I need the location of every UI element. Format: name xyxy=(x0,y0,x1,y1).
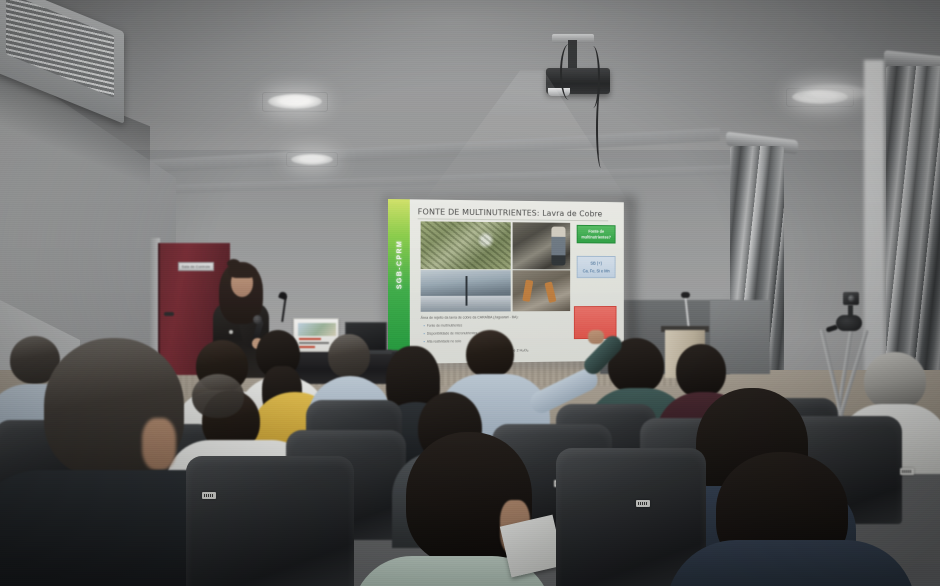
blue-callout: SB (+) Ca, Fe, Si e Mn xyxy=(577,256,616,278)
audience-head xyxy=(328,334,370,378)
door-handle[interactable] xyxy=(164,312,174,316)
ceiling-light-1 xyxy=(268,94,322,109)
slide-bullet-3: Alta reatividade no solo xyxy=(424,339,462,344)
reflective-pillar-right xyxy=(886,66,940,396)
foreground-face-left xyxy=(142,418,176,470)
podium-microphone-head-icon xyxy=(681,292,690,298)
audience-head-gray xyxy=(864,352,926,410)
chair[interactable] xyxy=(186,456,354,586)
ceiling-light-glow xyxy=(796,84,868,102)
aerial-mine-photo xyxy=(421,221,511,269)
green-callout: Fonte de multinutrientes? xyxy=(577,225,616,244)
presenter-button-2 xyxy=(229,330,233,334)
fieldwork-photo xyxy=(513,270,571,311)
foreground-shoulders-right xyxy=(666,540,916,586)
slide-title: FONTE DE MULTINUTRIENTES: Lavra de Cobre xyxy=(418,206,613,218)
mine-cut-photo xyxy=(421,270,511,312)
projector-cable-1 xyxy=(560,44,578,100)
chair-number-tag xyxy=(202,492,216,499)
site-visit-photo xyxy=(513,222,571,269)
blue-callout-line1: SB (+) xyxy=(578,257,615,266)
tripod-head[interactable] xyxy=(836,315,862,331)
slide-bullet-1: Fonte de multinutrientes xyxy=(424,323,463,328)
blue-callout-line2: Ca, Fe, Si e Mn xyxy=(578,266,615,274)
microphone-head-icon xyxy=(253,315,262,324)
audience-head xyxy=(676,344,726,398)
audience-pointing-hand xyxy=(588,330,604,344)
chair-number-tag xyxy=(636,500,650,507)
tripod-neck xyxy=(848,305,853,317)
presenter-hair-bun xyxy=(227,259,240,268)
slide-lead-text: Área de rejeito da lavra de cobre da CAR… xyxy=(421,315,574,321)
chair-number-tag xyxy=(900,468,914,475)
audience-head xyxy=(192,374,244,418)
slide-side-ribbon: SGB-CPRM xyxy=(388,199,410,364)
green-callout-label: Fonte de multinutrientes? xyxy=(578,226,615,241)
audience-head xyxy=(466,330,514,378)
wall-light-slot xyxy=(864,60,884,390)
ceiling-light-2 xyxy=(291,154,333,165)
slide-ribbon-label: SGB-CPRM xyxy=(396,215,403,315)
conference-photo: SGB-CPRM FONTE DE MULTINUTRIENTES: Lavra… xyxy=(0,0,940,586)
slide-bullet-2: Disponibilidade de micronutrientes xyxy=(424,331,478,336)
camera-lens-icon xyxy=(848,295,855,302)
notepad xyxy=(500,515,564,578)
